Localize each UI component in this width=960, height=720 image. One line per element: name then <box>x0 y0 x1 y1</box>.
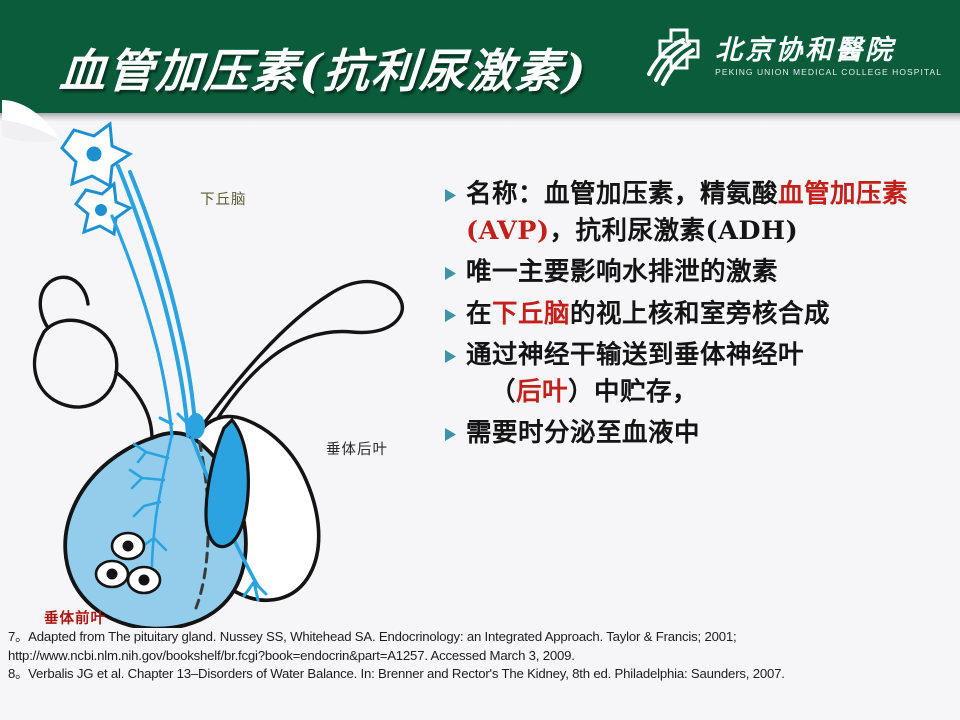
footnote-item: 8。Verbalis JG et al. Chapter 13–Disorder… <box>8 665 952 684</box>
bullet-item-only-hormone: 唯一主要影响水排泄的激素 <box>444 254 949 291</box>
bullet-text: 唯一主要影响水排泄的激素 <box>466 254 949 291</box>
triangle-right-icon <box>444 415 466 442</box>
bullet-text: 名称：血管加压素，精氨酸血管加压素(AVP)，抗利尿激素(ADH) <box>466 176 949 250</box>
bullet-text-accent: 下丘脑 <box>492 299 570 329</box>
bullet-text-segment: ，抗利尿激素(ADH) <box>550 216 799 246</box>
bullet-text-accent: 血管 <box>778 179 830 209</box>
bullet-list: 名称：血管加压素，精氨酸血管加压素(AVP)，抗利尿激素(ADH) 唯一主要影响… <box>444 176 949 457</box>
bullet-text-segment: （ <box>490 377 516 407</box>
page-title: 血管加压素(抗利尿激素) <box>58 35 590 101</box>
diagram-label-posterior-pituitary: 垂体后叶 <box>326 438 388 459</box>
bullet-text-segment: 名称：血管加压素，精氨酸 <box>466 179 778 209</box>
bullet-item-transport: 通过神经干输送到垂体神经叶 （后叶）中贮存， <box>444 337 949 411</box>
bullet-text-segment: 需要时分泌至血液中 <box>466 418 700 448</box>
bullet-text-segment: 通过神经干输送到垂体神经叶 <box>466 340 804 370</box>
bullet-item-secretion: 需要时分泌至血液中 <box>444 415 949 452</box>
diagram-label-anterior-pituitary: 垂体前叶 <box>44 607 106 628</box>
bullet-text: 需要时分泌至血液中 <box>466 415 949 452</box>
triangle-right-icon <box>444 176 466 203</box>
footnote-item: 7。Adapted from The pituitary gland. Nuss… <box>8 628 952 665</box>
bullet-text-segment: 在 <box>466 299 492 329</box>
bullet-text-second-line: （后叶）中贮存， <box>466 374 949 411</box>
slide-header: 血管加压素(抗利尿激素) 北京协和醫院 PEKING UNION MEDICAL… <box>0 0 960 113</box>
hospital-name-en: PEKING UNION MEDICAL COLLEGE HOSPITAL <box>715 68 942 77</box>
bullet-text: 通过神经干输送到垂体神经叶 （后叶）中贮存， <box>466 337 949 411</box>
presentation-slide: 血管加压素(抗利尿激素) 北京协和醫院 PEKING UNION MEDICAL… <box>0 0 960 720</box>
diagram-label-hypothalamus: 下丘脑 <box>200 188 247 209</box>
hospital-cross-dove-icon <box>643 28 705 86</box>
bullet-item-synthesis: 在下丘脑的视上核和室旁核合成 <box>444 296 949 333</box>
bullet-text-segment: 的视上核和室旁核合成 <box>570 299 830 329</box>
hypothalamus-pituitary-diagram: 下丘脑 垂体后叶 <box>0 118 440 628</box>
bullet-text: 在下丘脑的视上核和室旁核合成 <box>466 296 949 333</box>
bullet-text-segment: ）中贮存， <box>568 377 698 407</box>
triangle-right-icon <box>444 254 466 281</box>
bullet-text-accent: 后叶 <box>516 377 568 407</box>
bullet-item-name: 名称：血管加压素，精氨酸血管加压素(AVP)，抗利尿激素(ADH) <box>444 176 949 250</box>
hospital-name-cn: 北京协和醫院 <box>715 37 942 64</box>
bullet-text-segment: 唯一主要影响水排泄的激素 <box>466 257 778 287</box>
footnote-references: 7。Adapted from The pituitary gland. Nuss… <box>8 628 952 684</box>
neuron-cells <box>62 124 130 234</box>
triangle-right-icon <box>444 337 466 364</box>
hospital-logo: 北京协和醫院 PEKING UNION MEDICAL COLLEGE HOSP… <box>643 26 942 88</box>
triangle-right-icon <box>444 296 466 323</box>
hospital-logo-text: 北京协和醫院 PEKING UNION MEDICAL COLLEGE HOSP… <box>715 37 942 77</box>
